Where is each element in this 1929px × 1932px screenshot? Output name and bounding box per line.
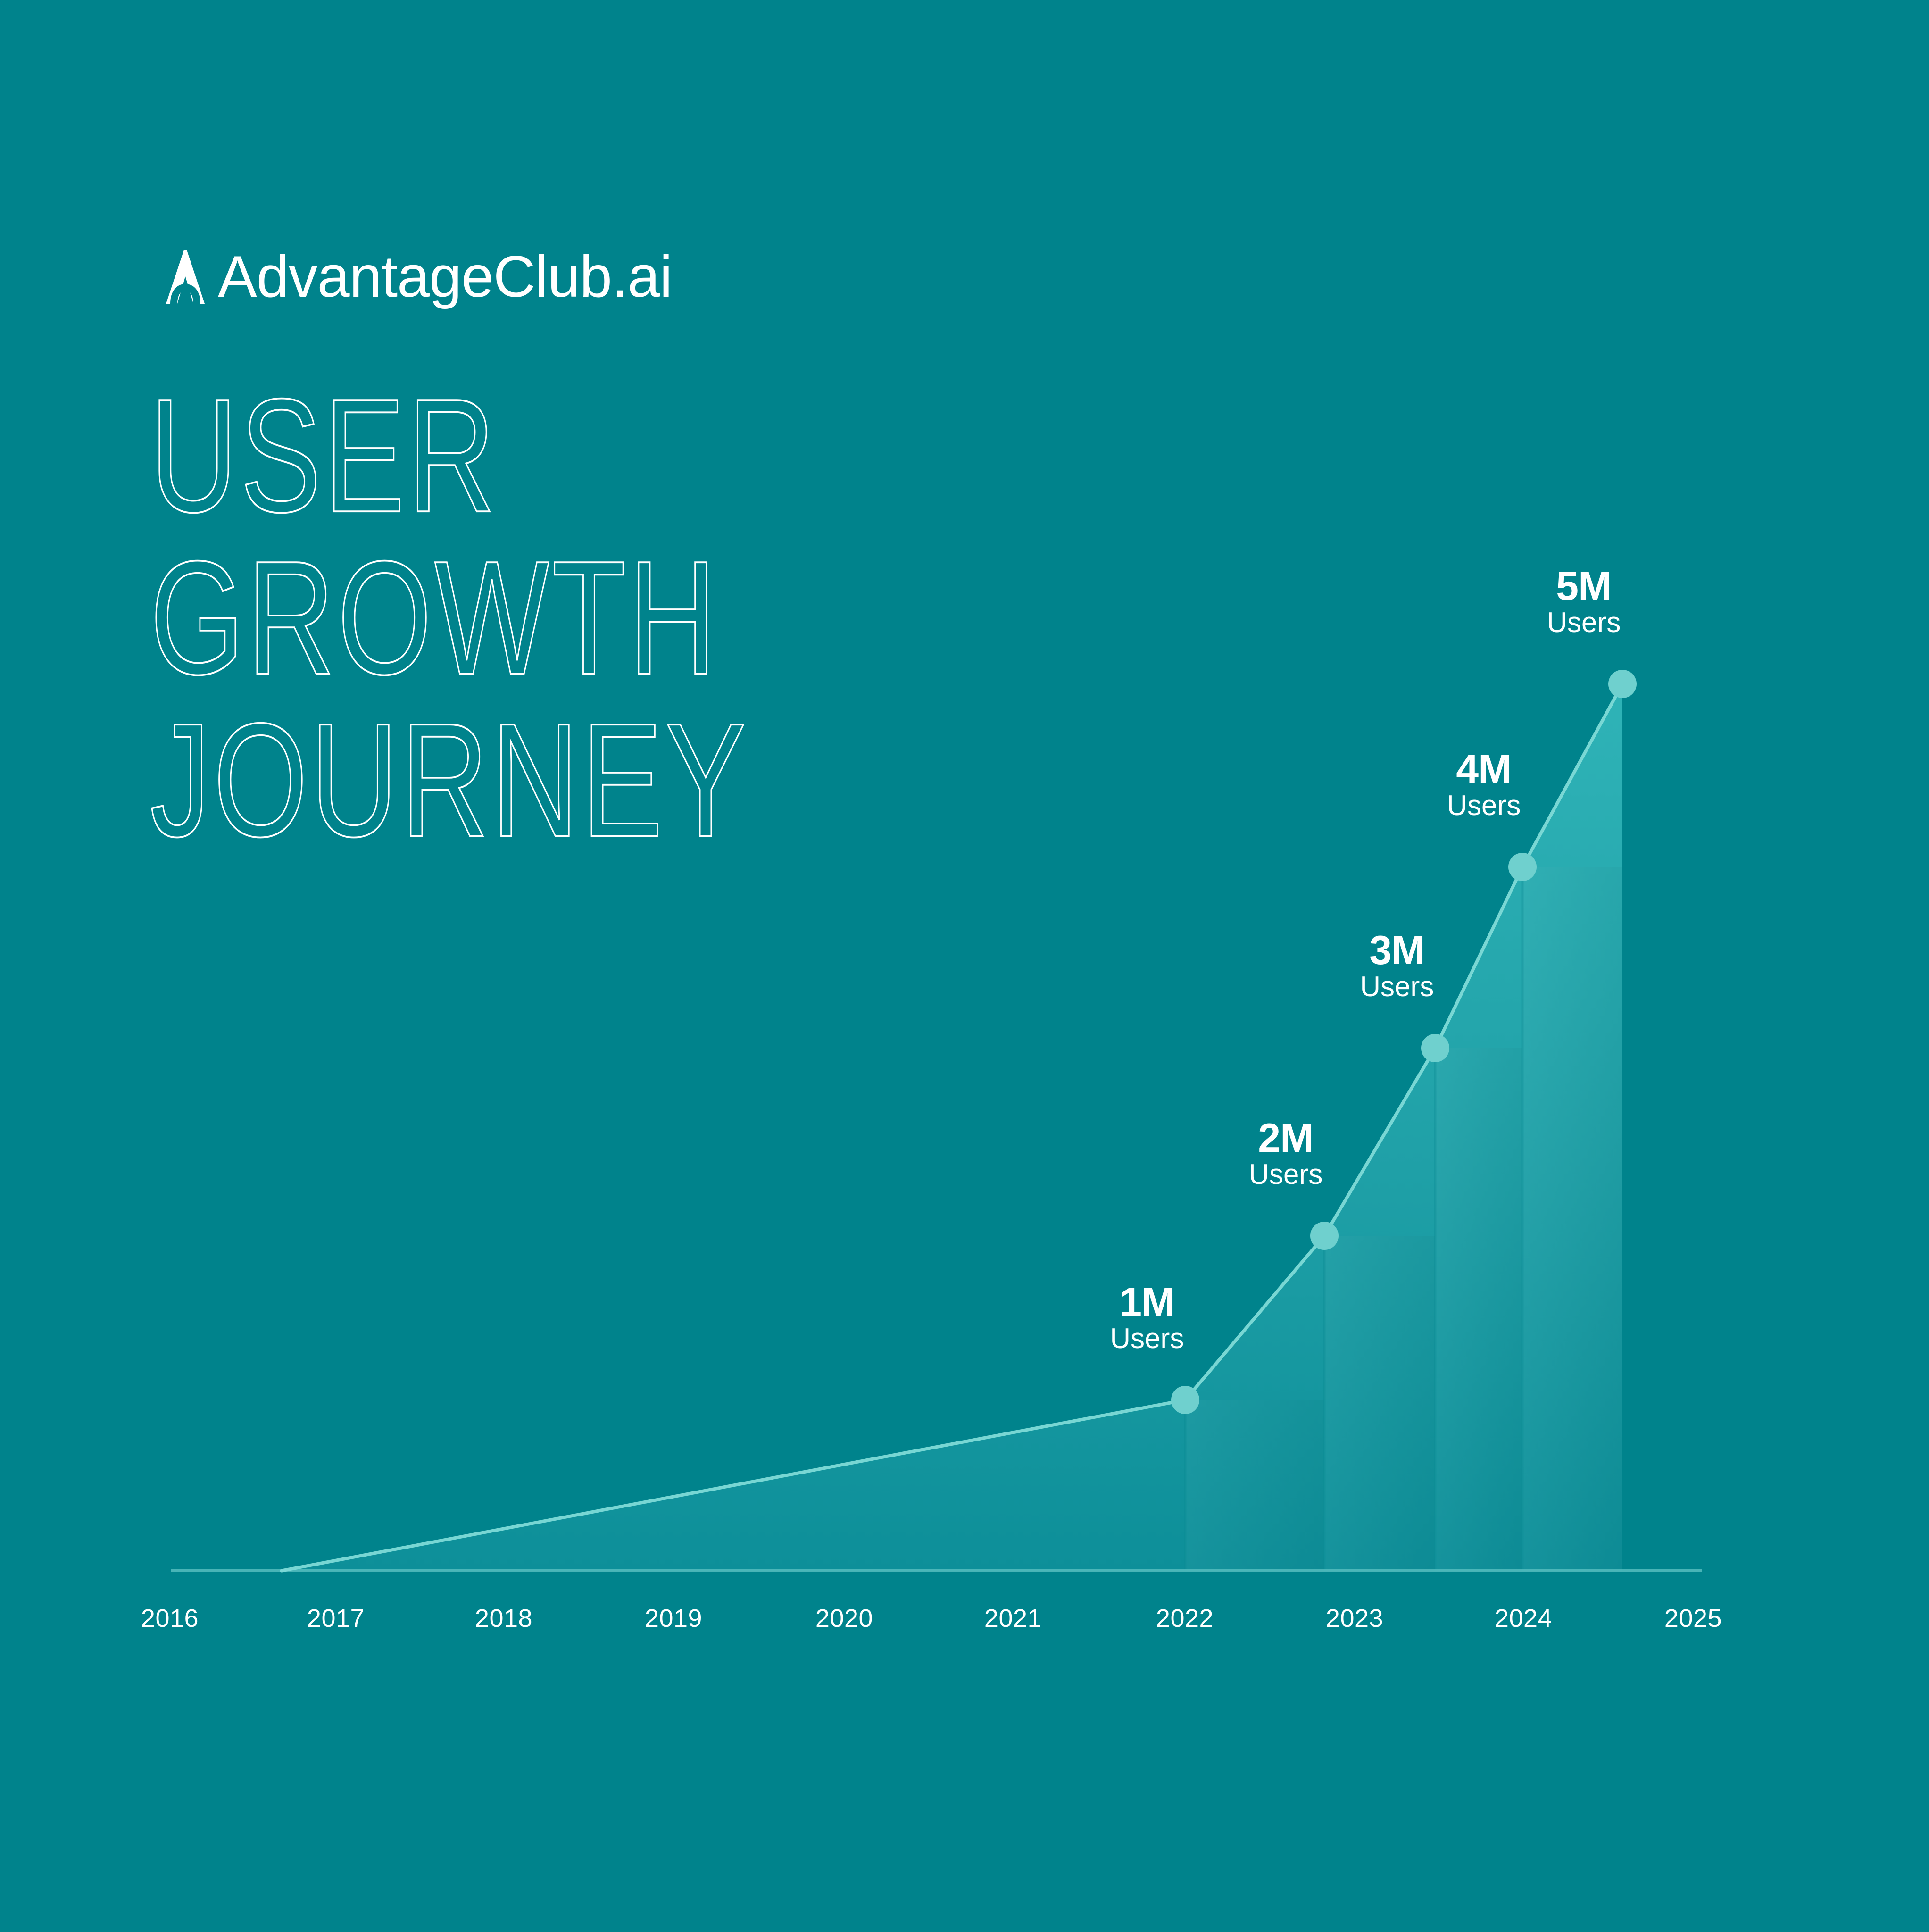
- callout-4m: 4M Users: [1447, 749, 1521, 821]
- headline-line-1: USER: [150, 377, 1056, 541]
- data-point-2m: [1310, 1222, 1339, 1250]
- axis-tick-2017: 2017: [307, 1604, 365, 1633]
- axis-tick-2022: 2022: [1156, 1604, 1214, 1633]
- headline-line-2: GROWTH: [150, 540, 1056, 703]
- axis-tick-2025: 2025: [1664, 1604, 1722, 1633]
- page-title: USER GROWTH JOURNEY: [150, 377, 1093, 864]
- callout-4m-unit: Users: [1447, 790, 1521, 821]
- data-point-1m: [1171, 1386, 1199, 1414]
- advantage-a-arch-icon: [155, 246, 216, 308]
- axis-tick-2019: 2019: [645, 1604, 702, 1633]
- callout-3m-unit: Users: [1360, 971, 1434, 1002]
- headline-line-3: JOURNEY: [150, 702, 1056, 865]
- callout-4m-value: 4M: [1447, 749, 1521, 790]
- data-point-markers: [1171, 670, 1637, 1414]
- callout-3m: 3M Users: [1360, 930, 1434, 1002]
- axis-tick-2023: 2023: [1326, 1604, 1383, 1633]
- callout-1m-unit: Users: [1110, 1323, 1184, 1354]
- brand-wordmark: AdvantageClub.ai: [218, 248, 672, 306]
- axis-tick-2016: 2016: [141, 1604, 199, 1633]
- data-point-3m: [1421, 1034, 1449, 1062]
- axis-tick-2024: 2024: [1495, 1604, 1552, 1633]
- brand-logo: AdvantageClub.ai: [155, 241, 672, 312]
- axis-tick-2021: 2021: [984, 1604, 1042, 1633]
- callout-2m-unit: Users: [1249, 1158, 1323, 1190]
- axis-tick-2020: 2020: [815, 1604, 873, 1633]
- infographic-canvas: 1M Users 2M Users 3M Users 4M Users 5M U…: [0, 0, 1929, 1932]
- callout-2m-value: 2M: [1249, 1118, 1323, 1158]
- callout-1m: 1M Users: [1110, 1282, 1184, 1354]
- callout-2m: 2M Users: [1249, 1118, 1323, 1190]
- callout-5m-unit: Users: [1547, 607, 1621, 638]
- callout-5m-value: 5M: [1547, 566, 1621, 607]
- callout-1m-value: 1M: [1110, 1282, 1184, 1323]
- callout-3m-value: 3M: [1360, 930, 1434, 971]
- data-point-5m: [1608, 670, 1637, 698]
- axis-tick-2018: 2018: [475, 1604, 532, 1633]
- callout-5m: 5M Users: [1547, 566, 1621, 638]
- data-point-4m: [1508, 853, 1537, 881]
